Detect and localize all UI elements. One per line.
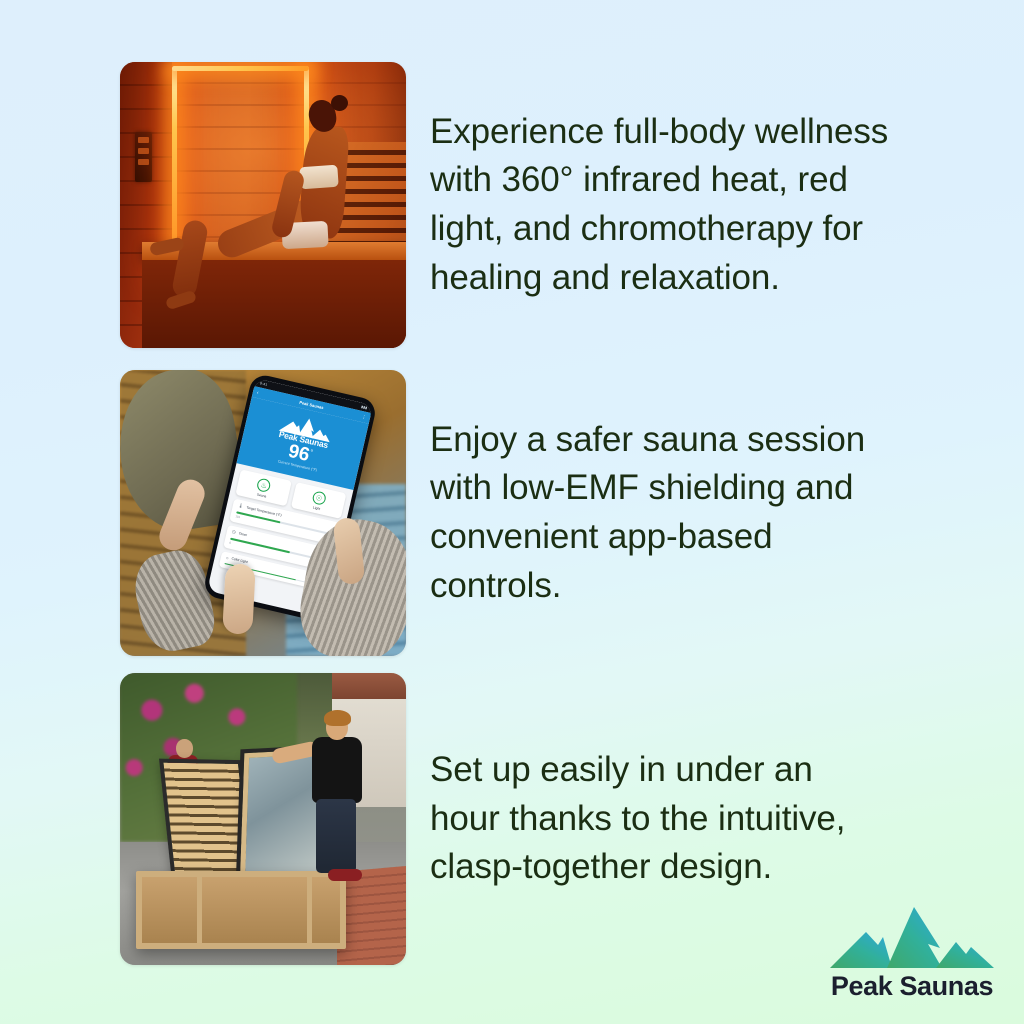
color-light-icon: ○ xyxy=(225,555,229,560)
feature-image-app-control: 9:41 ▮▮▮ ‹ Peak Saunas ⋮ xyxy=(120,370,406,656)
brand-lockup: Peak Saunas xyxy=(828,904,996,1002)
feature-text-fast-assembly: Set up easily in under an hour thanks to… xyxy=(430,746,885,892)
brand-wordmark: Peak Saunas xyxy=(831,971,993,1002)
status-bar-time: 9:41 xyxy=(260,381,268,387)
app-bar-title: Peak Saunas xyxy=(299,400,324,410)
clock-icon: ◷ xyxy=(231,529,236,536)
feature-row-infrared-wellness: Experience full-body wellness with 360° … xyxy=(120,62,910,348)
man-hair xyxy=(324,710,351,726)
feature-image-infrared-sauna xyxy=(120,62,406,348)
feature-image-crate-unboxing xyxy=(120,673,406,965)
overflow-menu-icon[interactable]: ⋮ xyxy=(361,414,367,421)
steam-icon: ♨ xyxy=(256,478,272,494)
finger-tapping-screen xyxy=(222,563,256,634)
peak-saunas-mountain-logo-icon xyxy=(828,904,996,970)
seated-person-silhouette xyxy=(120,62,406,348)
feature-text-low-emf-app-control: Enjoy a safer sauna session with low-EMF… xyxy=(430,416,900,611)
feature-text-infrared-wellness: Experience full-body wellness with 360° … xyxy=(430,108,900,303)
back-chevron-icon[interactable]: ‹ xyxy=(256,389,259,395)
marketing-graphic: Experience full-body wellness with 360° … xyxy=(0,0,1024,1024)
timer-label: Timer xyxy=(238,531,247,537)
shipping-crate xyxy=(136,871,346,949)
feature-row-low-emf-app-control: 9:41 ▮▮▮ ‹ Peak Saunas ⋮ xyxy=(120,370,910,656)
thermometer-icon: 🌡 xyxy=(237,503,244,510)
lightbulb-icon: ☉ xyxy=(311,490,327,506)
man-torso xyxy=(312,737,362,803)
man-shoe xyxy=(328,869,362,881)
status-bar-indicators: ▮▮▮ xyxy=(361,405,368,410)
roof-tiles xyxy=(332,673,406,699)
target-temperature-min: 104 xyxy=(235,514,240,519)
helper-person-head xyxy=(176,739,193,758)
timer-min: 0 xyxy=(229,540,231,544)
man-legs xyxy=(316,799,356,873)
feature-row-fast-assembly: Set up easily in under an hour thanks to… xyxy=(120,673,910,965)
